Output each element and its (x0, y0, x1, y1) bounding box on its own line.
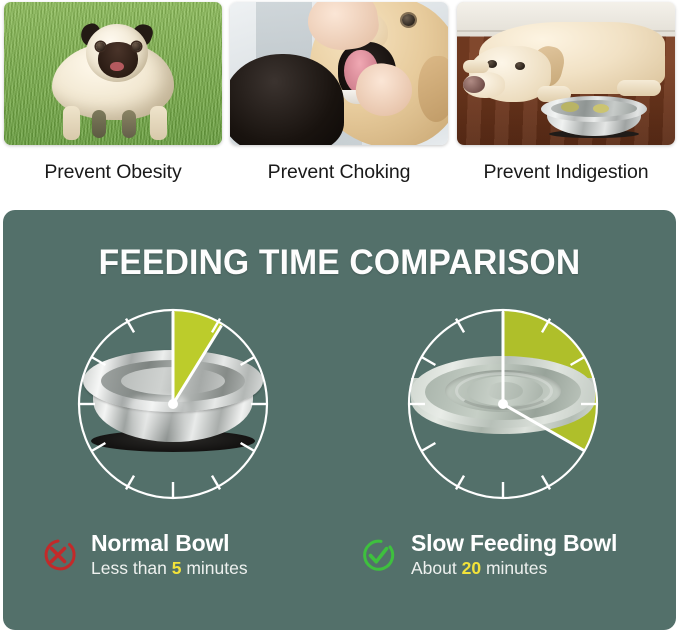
comparison-sub-value: 20 (462, 558, 481, 578)
dial-face-normal (73, 304, 273, 504)
circle-check-icon (359, 536, 397, 574)
benefit-caption: Prevent Obesity (4, 161, 222, 184)
dial-hub-normal (168, 399, 178, 409)
dial-gauge-normal-bowl (73, 304, 273, 504)
dial-face-slow (403, 304, 603, 504)
photo-pug-icon (4, 2, 222, 145)
benefit-caption: Prevent Choking (230, 161, 448, 184)
dial-hand-slow-2 (503, 404, 584, 451)
comparison-title: Slow Feeding Bowl (411, 530, 617, 557)
comparison-subtitle: About 20 minutes (411, 557, 617, 579)
dial-gauge-slow-feeding-bowl (403, 304, 603, 504)
circle-x-icon (39, 536, 77, 574)
benefits-strip: Prevent Obesity Prevent Choking (0, 0, 679, 200)
comparison-sub-suffix: minutes (181, 558, 247, 578)
comparison-label-normal-bowl: Normal Bowl Less than 5 minutes (39, 530, 339, 600)
comparison-sub-prefix: Less than (91, 558, 172, 578)
comparison-title: Normal Bowl (91, 530, 248, 557)
benefit-caption: Prevent Indigestion (457, 161, 675, 184)
photo-indigestion-icon (457, 2, 675, 145)
comparison-sub-suffix: minutes (481, 558, 547, 578)
page-title: FEEDING TIME COMPARISON (16, 243, 662, 283)
comparison-sub-prefix: About (411, 558, 462, 578)
comparison-subtitle: Less than 5 minutes (91, 557, 248, 579)
comparison-label-slow-feeding-bowl: Slow Feeding Bowl About 20 minutes (359, 530, 669, 600)
photo-choking-icon (230, 2, 448, 145)
dial-hub-slow (498, 399, 508, 409)
feeding-time-comparison-panel: FEEDING TIME COMPARISON (3, 210, 676, 630)
